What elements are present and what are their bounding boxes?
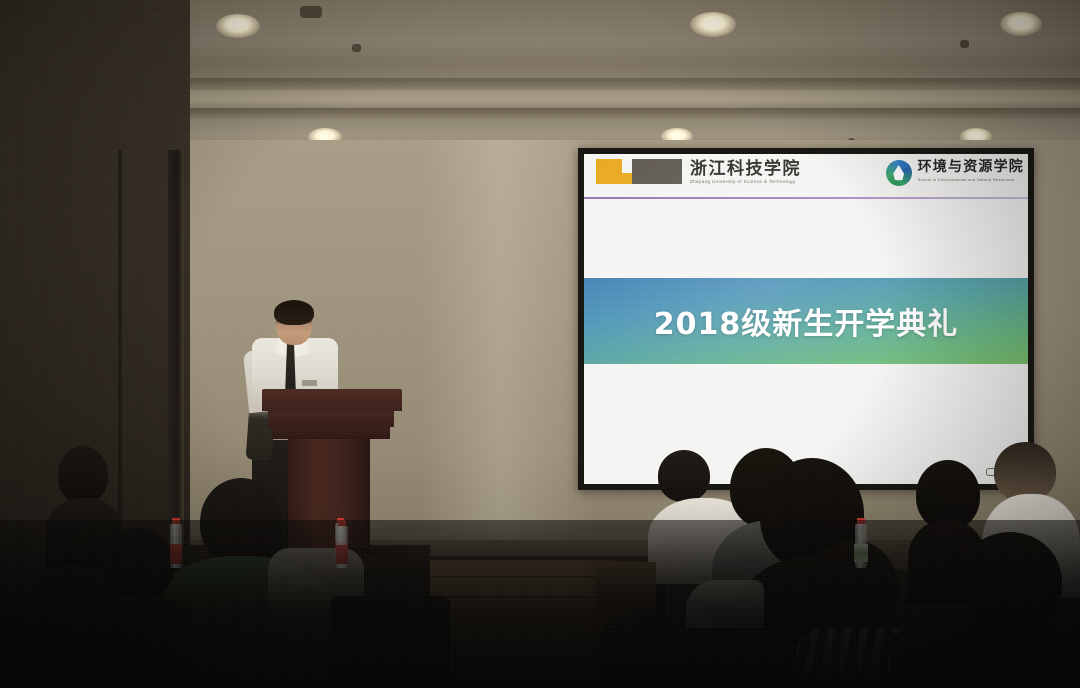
slide-title-band: 2018级新生开学典礼 — [584, 278, 1028, 364]
wall-light-sheen — [420, 140, 600, 570]
slide-divider-rule — [584, 197, 1028, 199]
downlight-icon — [216, 14, 260, 38]
logo-grey-block-icon — [632, 159, 682, 184]
water-drop-ring-icon — [886, 160, 912, 186]
logo-yellow-block-icon — [596, 159, 622, 184]
auditorium-photo: 浙江科技学院 Zhejiang University of Science & … — [0, 0, 1080, 688]
podium-lip — [272, 425, 390, 439]
audience-head — [658, 450, 710, 502]
speaker-hair — [274, 300, 314, 325]
sprinkler-icon — [352, 44, 361, 52]
downlight-icon — [690, 12, 736, 37]
podium-desktop — [262, 389, 402, 411]
logo-yellow-tab-icon — [620, 173, 632, 184]
sprinkler-icon — [300, 6, 322, 18]
sprinkler-icon — [960, 40, 969, 48]
speaker-name-badge — [302, 380, 317, 386]
slide-title: 2018级新生开学典礼 — [654, 299, 959, 343]
senr-name-en: School of Environmental and Natural Reso… — [918, 177, 1024, 182]
zust-name-cn: 浙江科技学院 — [690, 159, 801, 178]
podium-mid-tier — [268, 409, 394, 427]
audience-head — [994, 442, 1056, 502]
zhejiang-university-logo: 浙江科技学院 Zhejiang University of Science & … — [596, 159, 801, 184]
foreground-darkening — [0, 520, 1080, 688]
projection-screen: 浙江科技学院 Zhejiang University of Science & … — [584, 154, 1028, 484]
audience-head — [58, 446, 108, 504]
zust-name-en: Zhejiang University of Science & Technol… — [690, 179, 801, 184]
eyeglasses-icon — [986, 468, 1002, 476]
school-of-environment-logo: 环境与资源学院 School of Environmental and Natu… — [886, 160, 1024, 186]
senr-name-cn: 环境与资源学院 — [918, 160, 1024, 176]
downlight-icon — [1000, 12, 1042, 36]
slide-logo-row: 浙江科技学院 Zhejiang University of Science & … — [584, 154, 1028, 198]
